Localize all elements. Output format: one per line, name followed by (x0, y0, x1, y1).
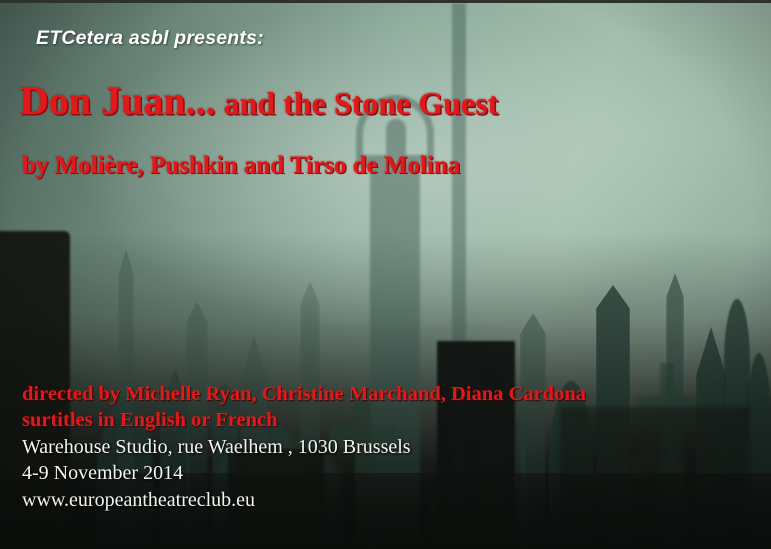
credit-dates: 4-9 November 2014 (22, 460, 586, 486)
title-primary: Don Juan... (20, 78, 216, 123)
credit-venue: Warehouse Studio, rue Waelhem , 1030 Bru… (22, 434, 586, 460)
theatre-poster: ETCetera asbl presents: Don Juan... and … (0, 0, 771, 549)
page-title: Don Juan... and the Stone Guest (20, 77, 498, 124)
presenter-line: ETCetera asbl presents: (36, 27, 264, 50)
credits-block: directed by Michelle Ryan, Christine Mar… (22, 381, 586, 513)
credit-surtitles: surtitles in English or French (22, 407, 586, 433)
authors-line: by Molière, Pushkin and Tirso de Molina (22, 152, 460, 180)
credit-directors: directed by Michelle Ryan, Christine Mar… (22, 381, 586, 407)
title-secondary: and the Stone Guest (216, 85, 499, 121)
credit-website[interactable]: www.europeantheatreclub.eu (22, 487, 586, 513)
